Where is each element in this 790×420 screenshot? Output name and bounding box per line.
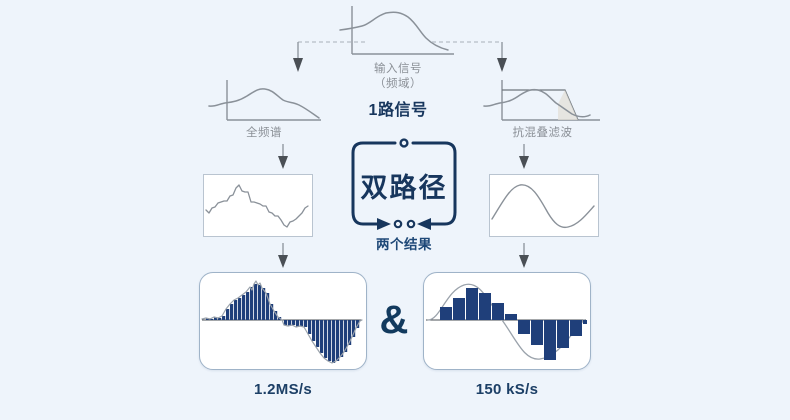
input-signal-label: 1路信号 xyxy=(328,96,468,120)
low-rate-sampling-chart xyxy=(423,272,591,370)
arrow-down-left-1 xyxy=(276,144,290,170)
dual-path-subtitle: 两个结果 xyxy=(343,233,465,253)
high-rate-label: 1.2MS/s xyxy=(199,381,367,398)
low-rate-label: 150 kS/s xyxy=(423,381,591,398)
badge-dot-1 xyxy=(395,221,401,227)
full-spectrum-chart xyxy=(205,78,323,126)
top-branch-connector xyxy=(270,30,530,82)
noisy-waveform-chart xyxy=(203,174,313,237)
high-rate-sampling-chart xyxy=(199,272,367,370)
diagram-canvas: 输入信号 （频域） 1路信号 全频谱 xyxy=(0,0,790,420)
arrow-down-left-2 xyxy=(276,243,290,269)
ampersand-connector: & xyxy=(371,300,417,340)
arrow-down-right-2 xyxy=(517,243,531,269)
anti-alias-filter-chart xyxy=(480,78,605,126)
sine-waveform-chart xyxy=(489,174,599,237)
anti-alias-filter-caption: 抗混叠滤波 xyxy=(480,126,605,141)
dual-path-title: 双路径 xyxy=(343,166,465,205)
badge-dot-2 xyxy=(408,221,414,227)
full-spectrum-caption: 全频谱 xyxy=(205,126,323,141)
arrow-down-right-1 xyxy=(517,144,531,170)
